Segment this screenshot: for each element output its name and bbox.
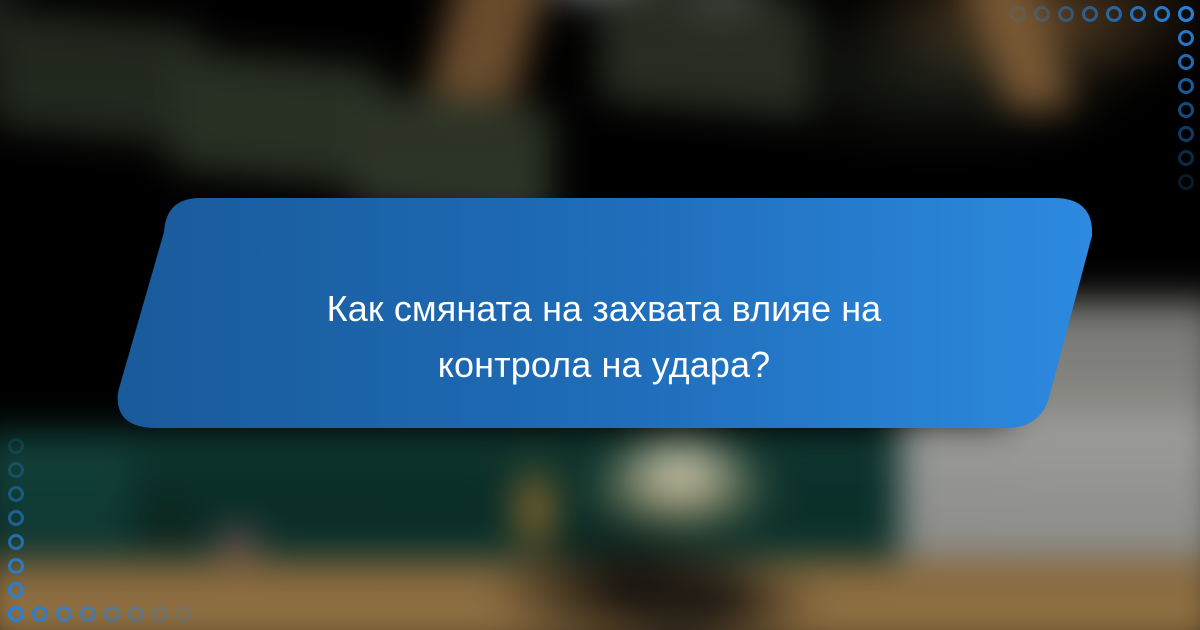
circle-outline-icon xyxy=(1058,6,1074,22)
circle-outline-icon xyxy=(8,486,24,502)
quote-text: Как смяната на захвата влияе на контрола… xyxy=(254,196,954,430)
circle-outline-icon xyxy=(8,534,24,550)
circle-outline-icon xyxy=(1130,6,1146,22)
circle-outline-icon xyxy=(1178,6,1194,22)
circle-outline-icon xyxy=(128,606,144,622)
circle-outline-icon xyxy=(1178,102,1194,118)
circle-outline-icon xyxy=(104,606,120,622)
circle-outline-icon xyxy=(32,606,48,622)
circle-outline-icon xyxy=(1034,6,1050,22)
circle-outline-icon xyxy=(1010,6,1026,22)
decor-dots-bottom-row xyxy=(8,606,192,622)
circle-outline-icon xyxy=(1178,54,1194,70)
background-person-head xyxy=(600,590,750,630)
background-left-objects xyxy=(80,480,300,590)
circle-outline-icon xyxy=(1178,126,1194,142)
circle-outline-icon xyxy=(8,582,24,598)
circle-outline-icon xyxy=(8,462,24,478)
circle-outline-icon xyxy=(8,510,24,526)
decor-dots-left-column xyxy=(8,438,24,622)
circle-outline-icon xyxy=(1154,6,1170,22)
quote-card: Как смяната на захвата влияе на контрола… xyxy=(104,196,1096,430)
circle-outline-icon xyxy=(152,606,168,622)
wall-panel xyxy=(170,48,380,188)
decor-dots-right-column xyxy=(1178,6,1194,190)
circle-outline-icon xyxy=(8,438,24,454)
social-quote-image: Как смяната на захвата влияе на контрола… xyxy=(0,0,1200,630)
background-person-shirt-highlight xyxy=(590,430,770,525)
circle-outline-icon xyxy=(8,606,24,622)
circle-outline-icon xyxy=(56,606,72,622)
circle-outline-icon xyxy=(1082,6,1098,22)
circle-outline-icon xyxy=(1178,78,1194,94)
circle-outline-icon xyxy=(1178,174,1194,190)
circle-outline-icon xyxy=(1178,30,1194,46)
circle-outline-icon xyxy=(8,558,24,574)
circle-outline-icon xyxy=(1178,150,1194,166)
circle-outline-icon xyxy=(80,606,96,622)
wall-panel xyxy=(600,0,810,119)
circle-outline-icon xyxy=(176,606,192,622)
decor-dots-top-row xyxy=(1010,6,1194,22)
circle-outline-icon xyxy=(1106,6,1122,22)
